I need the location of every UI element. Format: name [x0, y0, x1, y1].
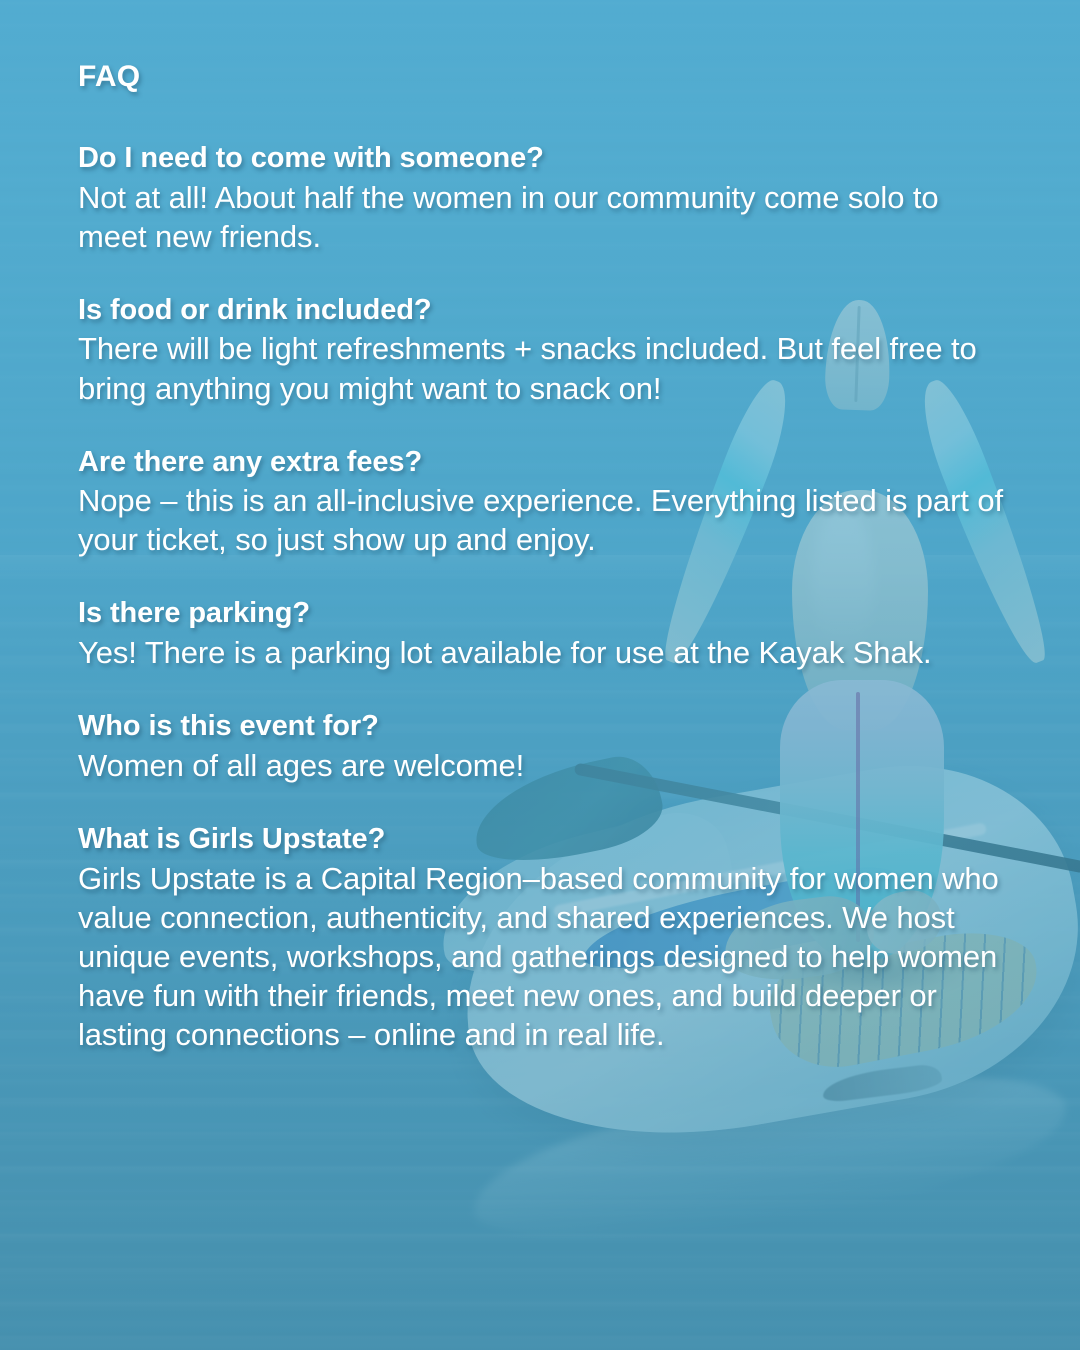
faq-item-2: Is food or drink included? There will be… — [78, 292, 1040, 408]
faq-question: Is there parking? — [78, 595, 1040, 633]
faq-answer: Women of all ages are welcome! — [78, 746, 1008, 785]
faq-question: Who is this event for? — [78, 708, 1040, 746]
faq-item-4: Is there parking? Yes! There is a parkin… — [78, 595, 1040, 672]
faq-item-3: Are there any extra fees? Nope – this is… — [78, 444, 1040, 560]
faq-question: What is Girls Upstate? — [78, 821, 1040, 859]
faq-item-1: Do I need to come with someone? Not at a… — [78, 140, 1040, 256]
faq-item-6: What is Girls Upstate? Girls Upstate is … — [78, 821, 1040, 1054]
faq-question: Are there any extra fees? — [78, 444, 1040, 482]
faq-content: FAQ Do I need to come with someone? Not … — [78, 62, 1040, 1054]
faq-answer: Nope – this is an all-inclusive experien… — [78, 481, 1008, 559]
faq-poster: FAQ Do I need to come with someone? Not … — [0, 0, 1080, 1350]
faq-item-5: Who is this event for? Women of all ages… — [78, 708, 1040, 785]
faq-answer: Yes! There is a parking lot available fo… — [78, 633, 1008, 672]
faq-answer: Girls Upstate is a Capital Region–based … — [78, 859, 1008, 1054]
faq-question: Do I need to come with someone? — [78, 140, 1040, 178]
faq-answer: There will be light refreshments + snack… — [78, 329, 1008, 407]
faq-question: Is food or drink included? — [78, 292, 1040, 330]
faq-answer: Not at all! About half the women in our … — [78, 178, 1008, 256]
page-title: FAQ — [78, 62, 1040, 92]
